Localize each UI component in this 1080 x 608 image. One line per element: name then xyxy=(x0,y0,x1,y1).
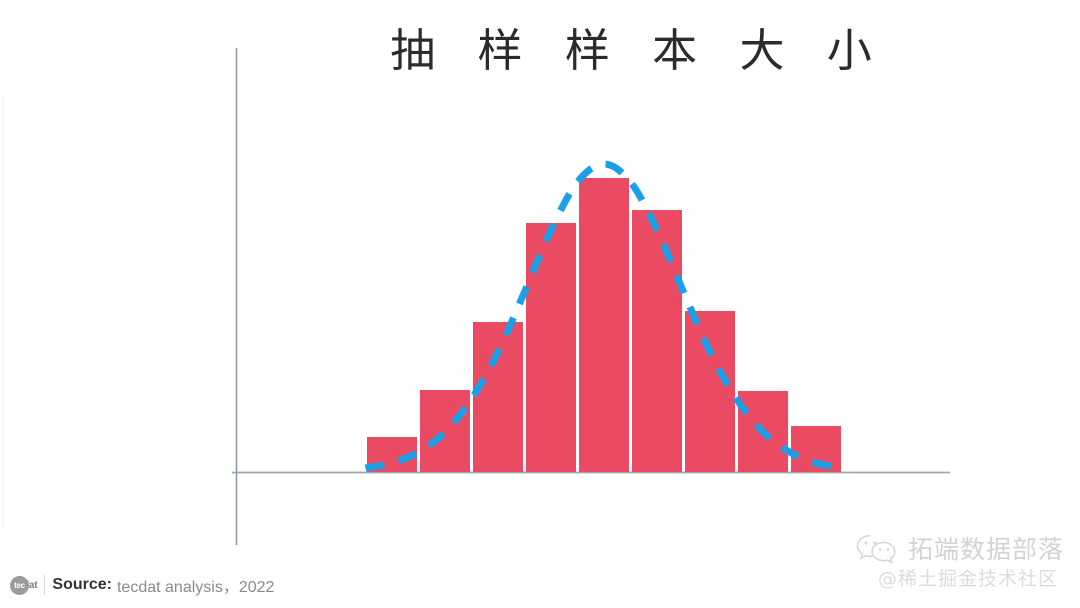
bar-series xyxy=(367,178,841,472)
chart-canvas: 抽 样 样 本 大 小 tec dat Source: tecdat analy… xyxy=(0,0,1080,608)
bar xyxy=(473,322,523,472)
source-label: Source: xyxy=(52,576,112,594)
bar xyxy=(579,178,629,472)
chart-svg xyxy=(0,0,1080,608)
bar xyxy=(420,390,470,472)
bar-chart-plot xyxy=(0,0,1080,608)
tecdat-logo: tec dat xyxy=(10,575,45,595)
source-footer: tec dat Source: tecdat analysis，2022 xyxy=(10,572,274,598)
bar xyxy=(632,210,682,472)
tecdat-badge-icon: tec xyxy=(10,576,29,595)
bar xyxy=(685,311,735,472)
bar xyxy=(526,223,576,472)
source-value: tecdat analysis，2022 xyxy=(117,573,274,597)
